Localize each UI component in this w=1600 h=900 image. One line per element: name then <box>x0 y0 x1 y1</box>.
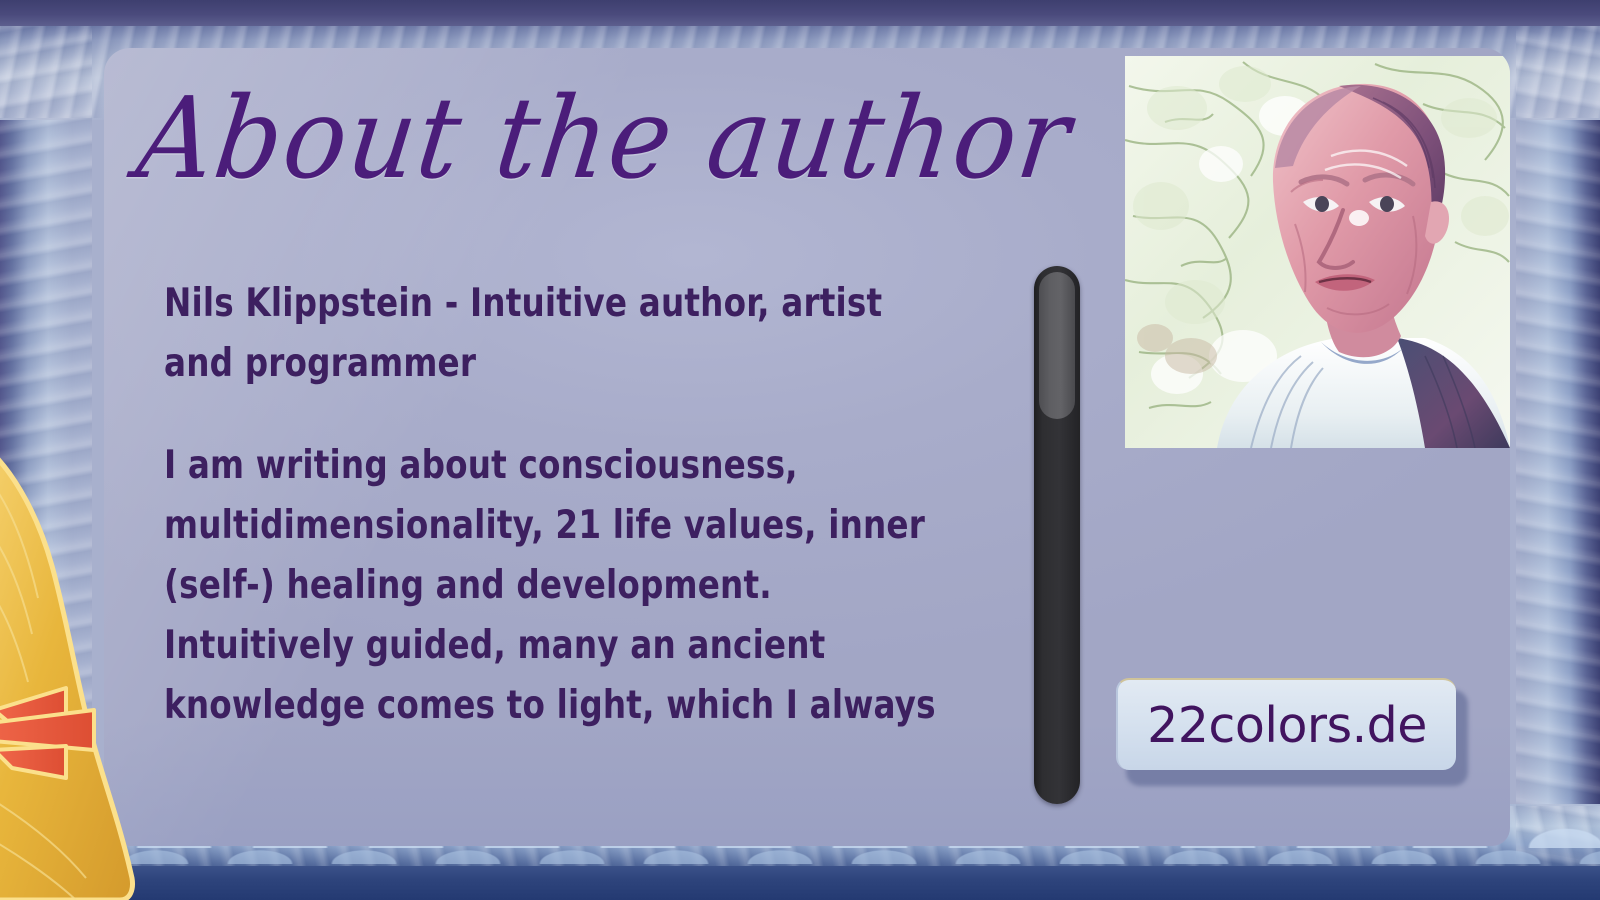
app-root: About the author Nils Klippstein - Intui… <box>0 0 1600 900</box>
page-title: About the author <box>132 80 1078 198</box>
logo-plate[interactable]: 22colors.de <box>1116 678 1456 770</box>
content-panel: About the author Nils Klippstein - Intui… <box>104 48 1510 846</box>
author-description-paragraph: I am writing about consciousness, multid… <box>164 436 950 736</box>
vertical-scrollbar[interactable] <box>1034 266 1080 804</box>
article-text: Nils Klippstein - Intuitive author, arti… <box>164 274 950 736</box>
logo-text: 22colors.de <box>1147 697 1427 754</box>
article-text-container: Nils Klippstein - Intuitive author, arti… <box>164 274 1009 834</box>
author-portrait-photo <box>1125 56 1510 448</box>
back-button[interactable] <box>0 438 142 900</box>
site-logo[interactable]: 22colors.de <box>1116 678 1468 788</box>
author-intro-paragraph: Nils Klippstein - Intuitive author, arti… <box>164 274 950 394</box>
scrollbar-thumb[interactable] <box>1039 272 1075 419</box>
